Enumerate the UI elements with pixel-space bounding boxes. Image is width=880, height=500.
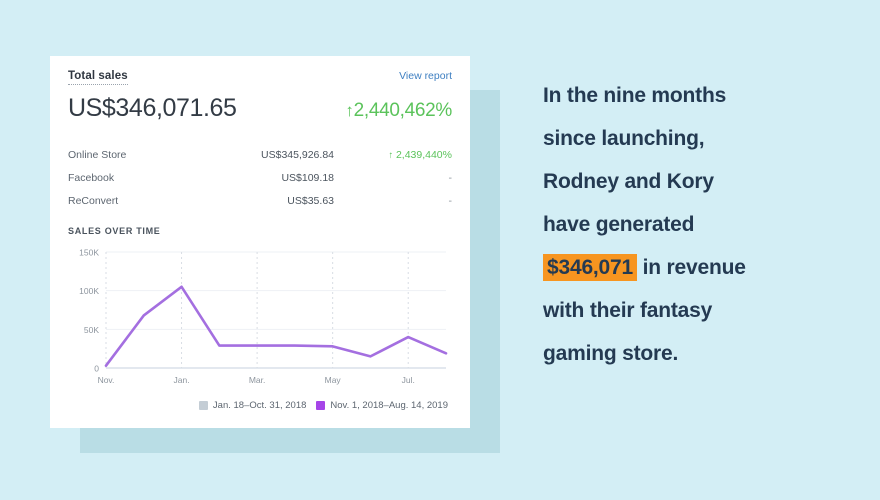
legend-item: Nov. 1, 2018–Aug. 14, 2019 <box>316 400 448 411</box>
channel-name: Facebook <box>68 172 258 184</box>
totals-row: US$346,071.65 ↑2,440,462% <box>68 94 452 123</box>
table-row: Online StoreUS$345,926.84↑ 2,439,440% <box>68 143 452 166</box>
channel-delta-value: 2,439,440% <box>396 149 452 161</box>
sales-over-time-chart: 050K100K150KNov.Jan.Mar.MayJul. <box>68 244 452 394</box>
total-delta-value: 2,440,462% <box>354 100 452 121</box>
quote-text: have generated <box>543 213 694 236</box>
total-sales-card: Total sales View report US$346,071.65 ↑2… <box>50 56 470 428</box>
legend-item: Jan. 18–Oct. 31, 2018 <box>199 400 306 411</box>
x-axis-tick-label: May <box>325 375 342 385</box>
table-row: ReConvertUS$35.63- <box>68 189 452 212</box>
quote-line: have generated <box>543 203 843 246</box>
quote-line: since launching, <box>543 117 843 160</box>
legend-color-swatch <box>199 401 208 410</box>
total-sales-amount: US$346,071.65 <box>68 94 237 123</box>
quote-line: Rodney and Kory <box>543 160 843 203</box>
arrow-up-icon: ↑ <box>389 150 396 161</box>
y-axis-tick-label: 50K <box>84 325 99 335</box>
highlighted-revenue-figure: $346,071 <box>543 254 637 281</box>
total-sales-delta: ↑2,440,462% <box>345 100 452 122</box>
quote-text: In the nine months <box>543 84 726 107</box>
page-title: Total sales <box>68 70 128 85</box>
channel-breakdown-list: Online StoreUS$345,926.84↑ 2,439,440%Fac… <box>68 143 452 212</box>
chart-legend: Jan. 18–Oct. 31, 2018Nov. 1, 2018–Aug. 1… <box>68 400 452 411</box>
x-axis-tick-label: Mar. <box>249 375 266 385</box>
legend-label: Jan. 18–Oct. 31, 2018 <box>213 400 306 411</box>
quote-text: Rodney and Kory <box>543 170 714 193</box>
y-axis-tick-label: 100K <box>79 286 99 296</box>
channel-delta-value: - <box>449 172 453 184</box>
x-axis-tick-label: Jan. <box>174 375 190 385</box>
quote-text: in revenue <box>637 256 746 279</box>
channel-name: ReConvert <box>68 195 258 207</box>
quote-line: gaming store. <box>543 332 843 375</box>
x-axis-tick-label: Nov. <box>98 375 115 385</box>
quote-text: since launching, <box>543 127 704 150</box>
x-axis-tick-label: Jul. <box>402 375 415 385</box>
legend-color-swatch <box>316 401 325 410</box>
y-axis-tick-label: 0 <box>94 364 99 374</box>
channel-name: Online Store <box>68 149 258 161</box>
pull-quote: In the nine monthssince launching,Rodney… <box>543 74 843 375</box>
quote-text: gaming store. <box>543 342 678 365</box>
arrow-up-icon: ↑ <box>345 101 353 120</box>
card-header: Total sales View report <box>68 70 452 85</box>
quote-text: with their fantasy <box>543 299 712 322</box>
channel-delta: - <box>364 172 452 184</box>
quote-line: $346,071 in revenue <box>543 246 843 289</box>
quote-line: with their fantasy <box>543 289 843 332</box>
channel-delta-value: - <box>449 195 453 207</box>
chart-line-series <box>106 287 446 366</box>
channel-delta: ↑ 2,439,440% <box>364 149 452 161</box>
channel-delta: - <box>364 195 452 207</box>
legend-label: Nov. 1, 2018–Aug. 14, 2019 <box>330 400 448 411</box>
channel-value: US$345,926.84 <box>258 149 364 161</box>
channel-value: US$35.63 <box>258 195 364 207</box>
quote-line: In the nine months <box>543 74 843 117</box>
sales-over-time-label: SALES OVER TIME <box>68 226 452 236</box>
view-report-link[interactable]: View report <box>399 70 452 82</box>
table-row: FacebookUS$109.18- <box>68 166 452 189</box>
y-axis-tick-label: 150K <box>79 248 99 258</box>
channel-value: US$109.18 <box>258 172 364 184</box>
